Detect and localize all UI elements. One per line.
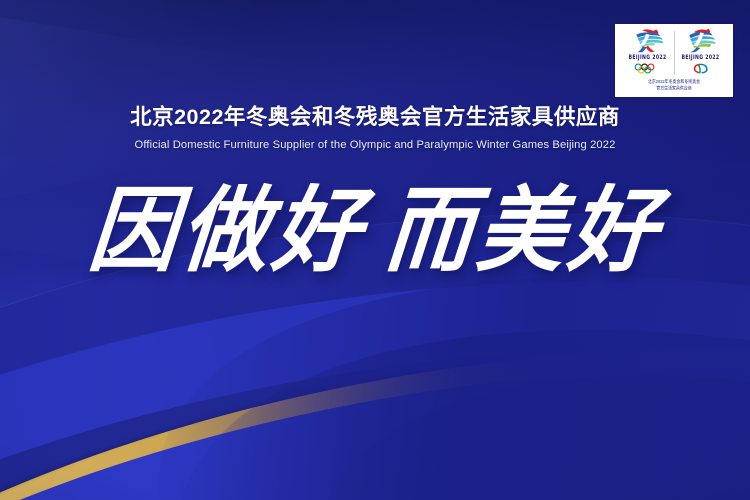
logo-caption-line-1: 北京2022年冬奥会和冬残奥会 (615, 78, 733, 85)
beijing-2022-olympic-emblem-icon (626, 27, 670, 54)
olympic-rings-icon (633, 63, 663, 74)
paralympic-wordmark: BEIJING 2022 (682, 55, 720, 61)
official-supplier-logo-box: BEIJING 2022 (615, 24, 733, 97)
headline-chinese: 北京2022年冬奥会和冬残奥会官方生活家具供应商 (0, 104, 750, 132)
headline-block: 北京2022年冬奥会和冬残奥会官方生活家具供应商 Official Domest… (0, 104, 750, 151)
olympic-wordmark: BEIJING 2022 (629, 55, 667, 61)
logo-caption: 北京2022年冬奥会和冬残奥会 官方生活家具供应商 (615, 77, 733, 92)
olympic-supplier-banner: 北京2022年冬奥会和冬残奥会官方生活家具供应商 Official Domest… (0, 0, 750, 500)
paralympic-agitos-icon (691, 63, 711, 74)
beijing-2022-paralympic-emblem-icon (679, 27, 723, 54)
headline-english: Official Domestic Furniture Supplier of … (0, 139, 750, 151)
logo-emblem-row: BEIJING 2022 (615, 24, 733, 78)
paralympic-emblem-group: BEIJING 2022 (675, 27, 727, 74)
slogan-part-1: 因做好 (85, 182, 369, 280)
logo-caption-line-2: 官方生活家具供应商 (615, 85, 733, 92)
slogan-part-2: 而美好 (381, 182, 665, 280)
slogan-calligraphy: 因做好而美好 (0, 186, 750, 276)
olympic-emblem-group: BEIJING 2022 (622, 27, 674, 74)
